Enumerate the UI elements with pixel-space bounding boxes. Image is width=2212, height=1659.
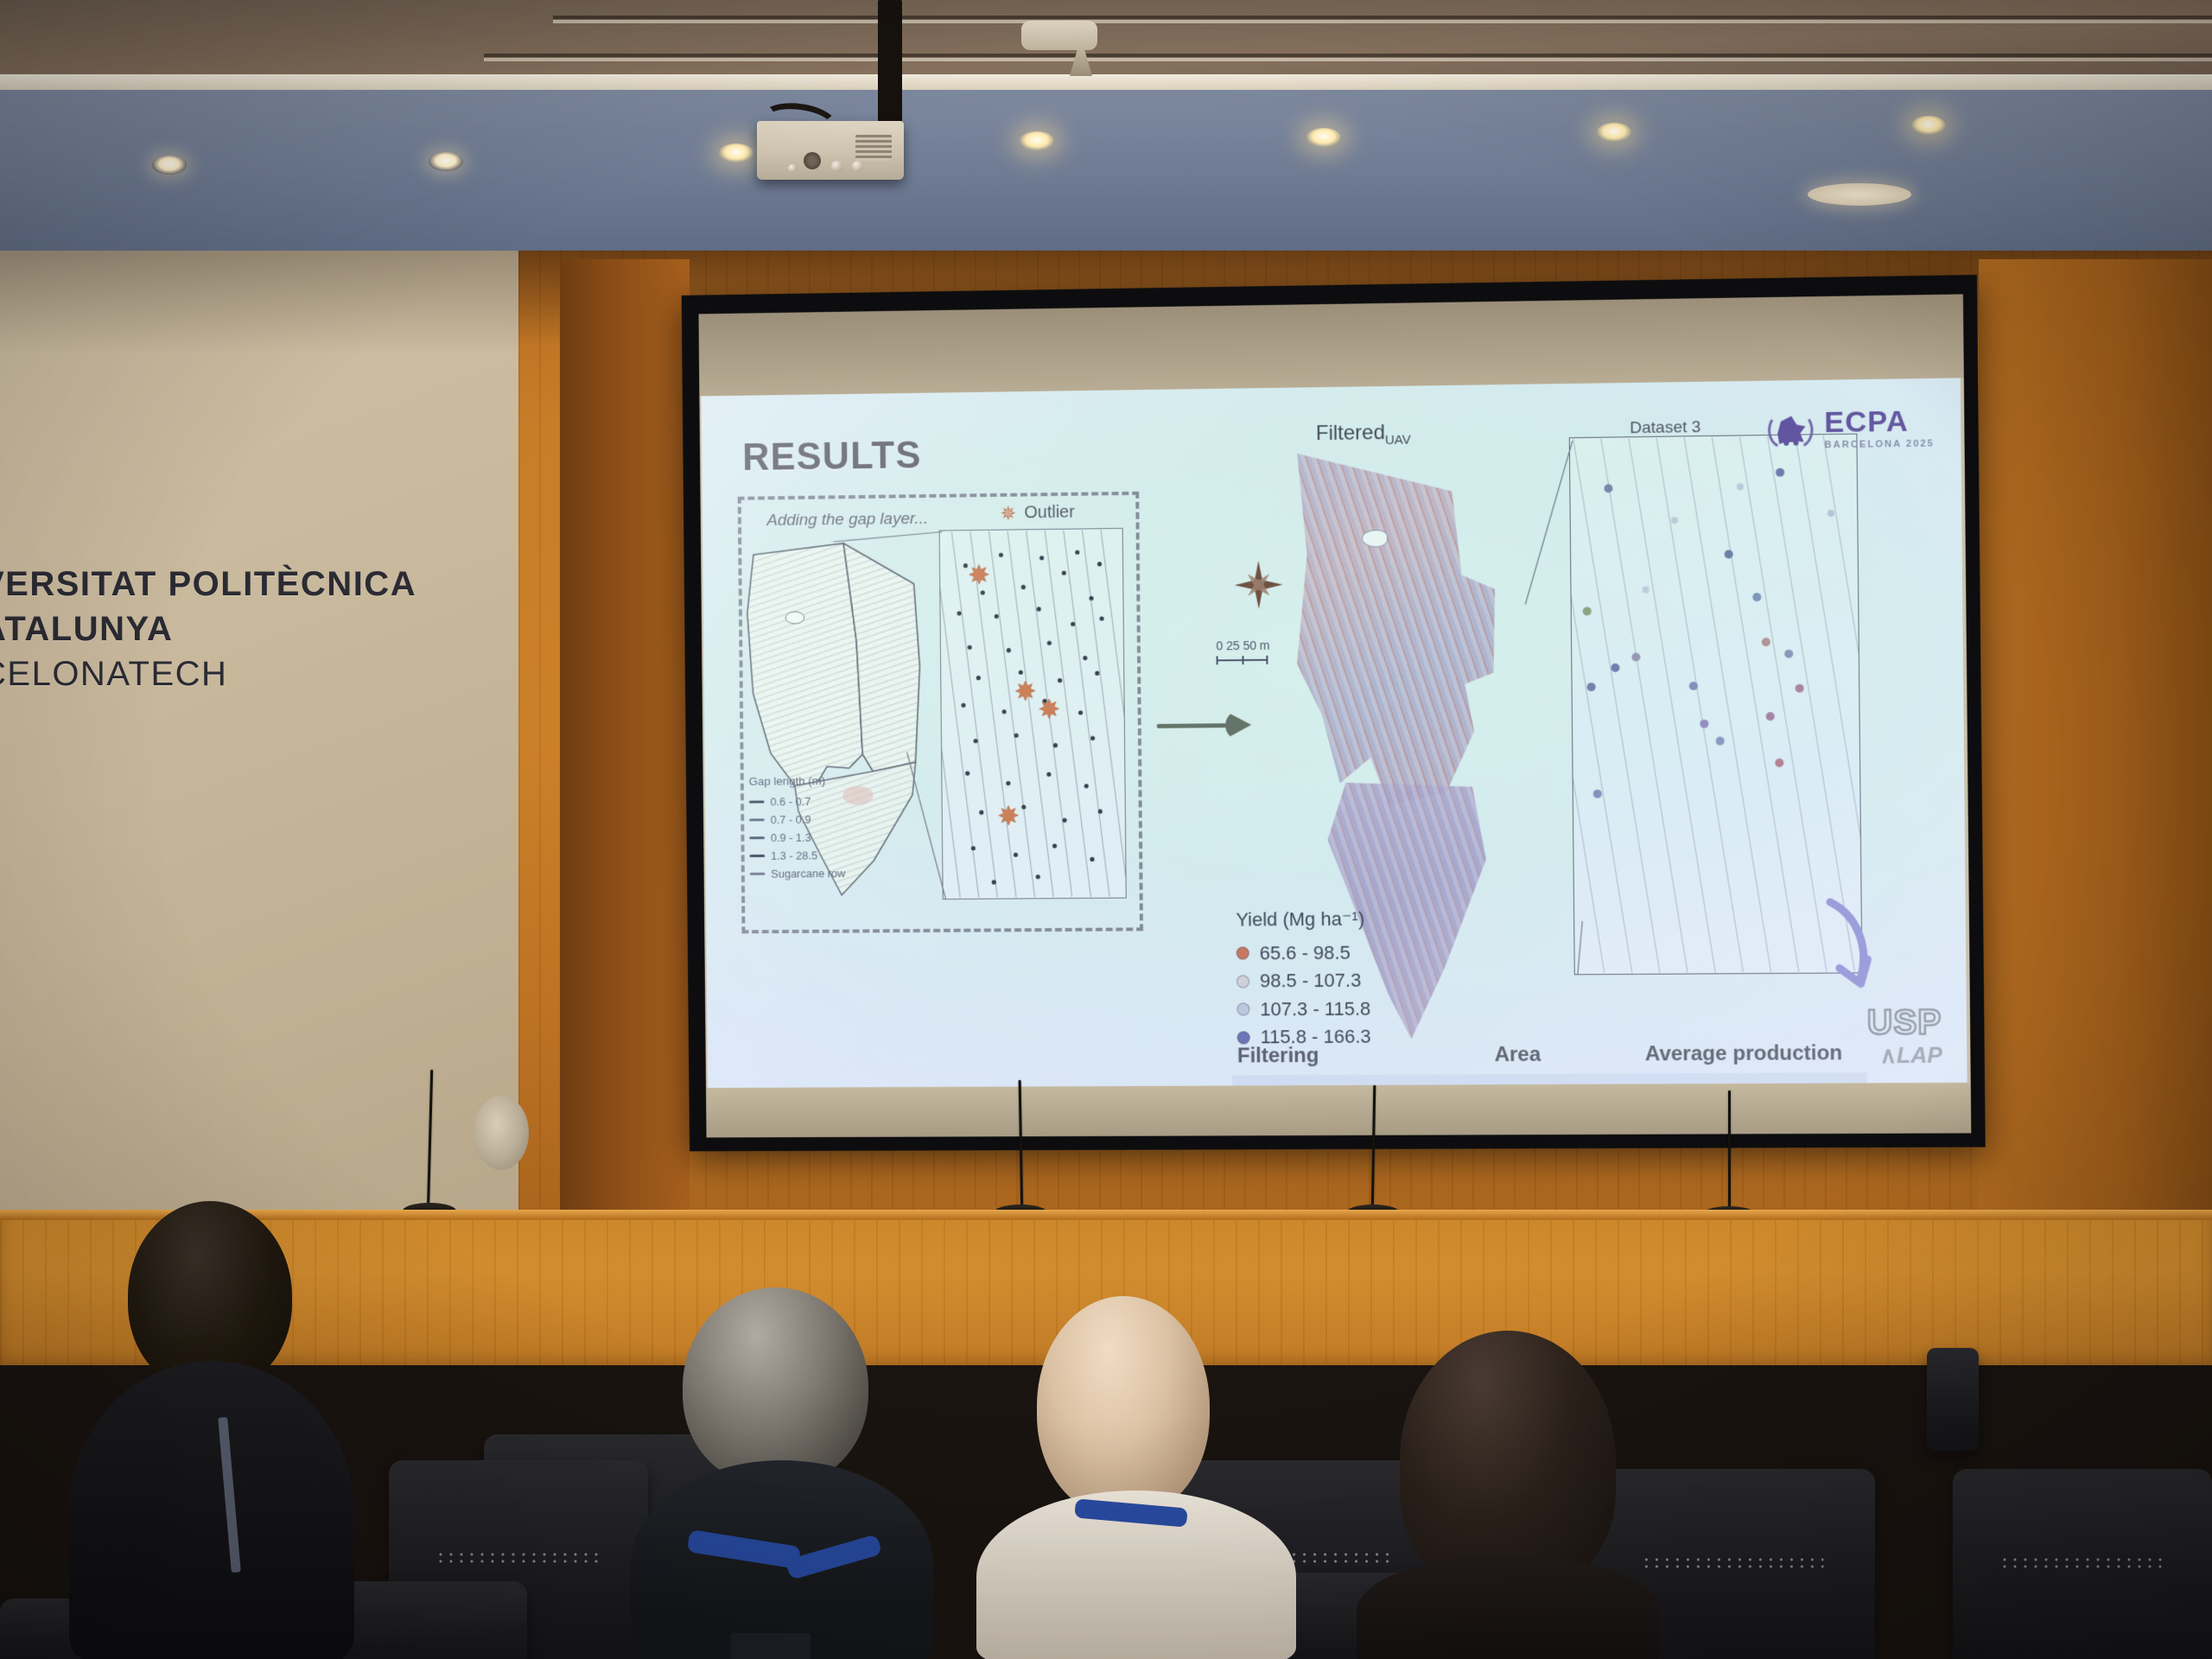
table-header-area: Area	[1409, 1042, 1626, 1067]
projector-lens-icon	[804, 152, 821, 169]
gap-legend-label: 1.3 - 28.5	[771, 847, 817, 865]
presentation-slide: RESULTS Adding the gap layer... ✵ Outlie…	[701, 378, 1967, 1088]
person-body	[1357, 1555, 1659, 1659]
wall-speaker-icon	[474, 1096, 529, 1170]
downlight-icon	[1597, 123, 1631, 142]
yield-legend-item: 98.5 - 107.3	[1236, 967, 1370, 995]
ceiling-slat	[553, 16, 2212, 19]
projector-knob	[831, 161, 842, 172]
outlier-star-icon: ✵	[1001, 505, 1018, 522]
gap-legend-header: Gap length (m)	[749, 772, 845, 791]
screen-surface: RESULTS Adding the gap layer... ✵ Outlie…	[699, 294, 1972, 1137]
yield-legend-item: 65.6 - 98.5	[1236, 938, 1370, 967]
wall-signage-line-1: VERSITAT POLITÈCNICA	[0, 562, 534, 607]
audience-person	[657, 1287, 907, 1659]
yield-map-void	[1362, 530, 1388, 547]
wood-pillar-left	[560, 259, 690, 1227]
gap-legend-item: 0.6 - 0.7	[749, 792, 845, 811]
left-wall-shadow	[0, 251, 570, 354]
screen-blank-bottom	[706, 1083, 1971, 1138]
gap-legend-item: 0.7 - 0.9	[749, 810, 845, 829]
usp-lap-logo: USP ∧LAP	[1867, 1005, 1942, 1069]
person-head	[1037, 1296, 1210, 1516]
projector-vent	[855, 135, 892, 161]
wall-signage-line-2: ATALUNYA	[0, 607, 534, 652]
outlier-legend: ✵ Outlier	[1001, 503, 1075, 524]
left-wall	[0, 251, 570, 1227]
flow-arrow-icon	[1156, 708, 1258, 743]
person-body	[69, 1361, 354, 1659]
downlight-icon	[152, 156, 187, 175]
gap-swatch-icon	[750, 873, 766, 876]
seat-armrest[interactable]	[1927, 1348, 1979, 1452]
table-header-production: Average production	[1626, 1041, 1862, 1066]
scalebar-bar-icon	[1217, 656, 1268, 665]
gap-legend-label: 0.9 - 1.3	[771, 829, 811, 847]
gap-swatch-icon	[749, 818, 765, 822]
person-head	[1400, 1331, 1616, 1590]
compass-rose-icon	[1234, 561, 1282, 610]
downlight-icon	[719, 143, 753, 162]
ecpa-text: ECPA BARCELONA 2025	[1824, 406, 1935, 450]
slide-title: RESULTS	[742, 434, 922, 479]
yield-legend-header: Yield (Mg ha⁻¹)	[1236, 906, 1370, 935]
audience-person	[1348, 1331, 1659, 1659]
lap-name-wrap: ∧LAP	[1867, 1042, 1942, 1070]
ecpa-mark-icon	[1764, 410, 1815, 449]
ceiling-fixture	[1808, 183, 1911, 206]
projector-knob	[788, 164, 797, 173]
yield-legend-label: 107.3 - 115.8	[1260, 995, 1370, 1023]
gap-legend-item: Sugarcane row	[750, 864, 846, 883]
seat[interactable]	[1953, 1469, 2212, 1659]
downlight-icon	[1911, 116, 1946, 135]
gap-legend-label: 0.6 - 0.7	[770, 792, 810, 810]
lecture-hall-photo: VERSITAT POLITÈCNICA ATALUNYA CELONATECH…	[0, 0, 2212, 1659]
smoke-detector-icon	[1021, 21, 1097, 50]
yield-dot-icon	[1236, 947, 1249, 960]
microphone-stem	[1728, 1090, 1731, 1217]
lap-caret-icon: ∧	[1879, 1042, 1897, 1068]
wood-pillar-right	[1979, 259, 2212, 1227]
curved-arrow-icon	[1818, 894, 1898, 999]
map-scalebar: 0 25 50 m	[1216, 639, 1269, 665]
gap-legend-item: 0.9 - 1.3	[749, 828, 845, 847]
results-table: Filtering Area Average production Filter…	[1232, 1041, 1869, 1088]
audience-person	[86, 1201, 363, 1659]
table-header-filtering: Filtering	[1237, 1044, 1410, 1069]
person-head	[683, 1287, 868, 1486]
yield-legend-item: 107.3 - 115.8	[1236, 995, 1370, 1023]
yield-dot-icon	[1236, 975, 1249, 988]
ecpa-name: ECPA	[1824, 406, 1935, 437]
audience-person	[985, 1296, 1279, 1659]
ceiling-panel-blue	[0, 90, 2212, 263]
yield-dot-icon	[1236, 1003, 1249, 1016]
projection-screen: RESULTS Adding the gap layer... ✵ Outlie…	[682, 275, 1986, 1151]
ecpa-logo: ECPA BARCELONA 2025	[1764, 406, 1935, 451]
downlight-icon	[1020, 131, 1054, 150]
gap-layer-caption: Adding the gap layer...	[766, 510, 928, 531]
badge	[731, 1633, 810, 1659]
gap-legend-label: 0.7 - 0.9	[771, 810, 811, 829]
ceiling-projector	[757, 121, 904, 180]
projector-mount-pole	[878, 0, 902, 130]
downlight-icon	[429, 152, 463, 171]
yield-legend-label: 98.5 - 107.3	[1260, 967, 1362, 995]
dataset3-sampling-panel	[1569, 434, 1863, 976]
yield-legend-label: 65.6 - 98.5	[1260, 938, 1351, 967]
gap-swatch-icon	[749, 855, 765, 858]
projector-knob	[852, 161, 863, 172]
gap-legend-item: 1.3 - 28.5	[749, 846, 845, 865]
outlier-legend-label: Outlier	[1024, 503, 1075, 524]
lap-name: LAP	[1897, 1042, 1942, 1069]
downlight-icon	[1306, 128, 1341, 147]
yield-map-polygon-north	[1288, 443, 1512, 809]
gap-legend-label: Sugarcane row	[771, 864, 845, 883]
wall-university-signage: VERSITAT POLITÈCNICA ATALUNYA CELONATECH	[0, 562, 534, 696]
yield-dot-icon	[1237, 1031, 1250, 1044]
gap-swatch-icon	[749, 836, 765, 840]
yield-legend: Yield (Mg ha⁻¹) 65.6 - 98.5 98.5 - 107.3…	[1236, 906, 1370, 1052]
usp-name: USP	[1867, 1005, 1942, 1040]
gap-length-legend: Gap length (m) 0.6 - 0.7 0.7 - 0.9 0.9 -…	[749, 772, 846, 883]
gap-swatch-icon	[749, 800, 765, 804]
ecpa-subtitle: BARCELONA 2025	[1825, 438, 1935, 450]
table-header-row: Filtering Area Average production	[1232, 1041, 1867, 1075]
ceiling-slat	[484, 54, 2212, 57]
wall-signage-line-3: CELONATECH	[0, 652, 534, 696]
sampling-grid-left	[939, 528, 1127, 899]
scalebar-label: 0 25 50 m	[1216, 639, 1269, 653]
